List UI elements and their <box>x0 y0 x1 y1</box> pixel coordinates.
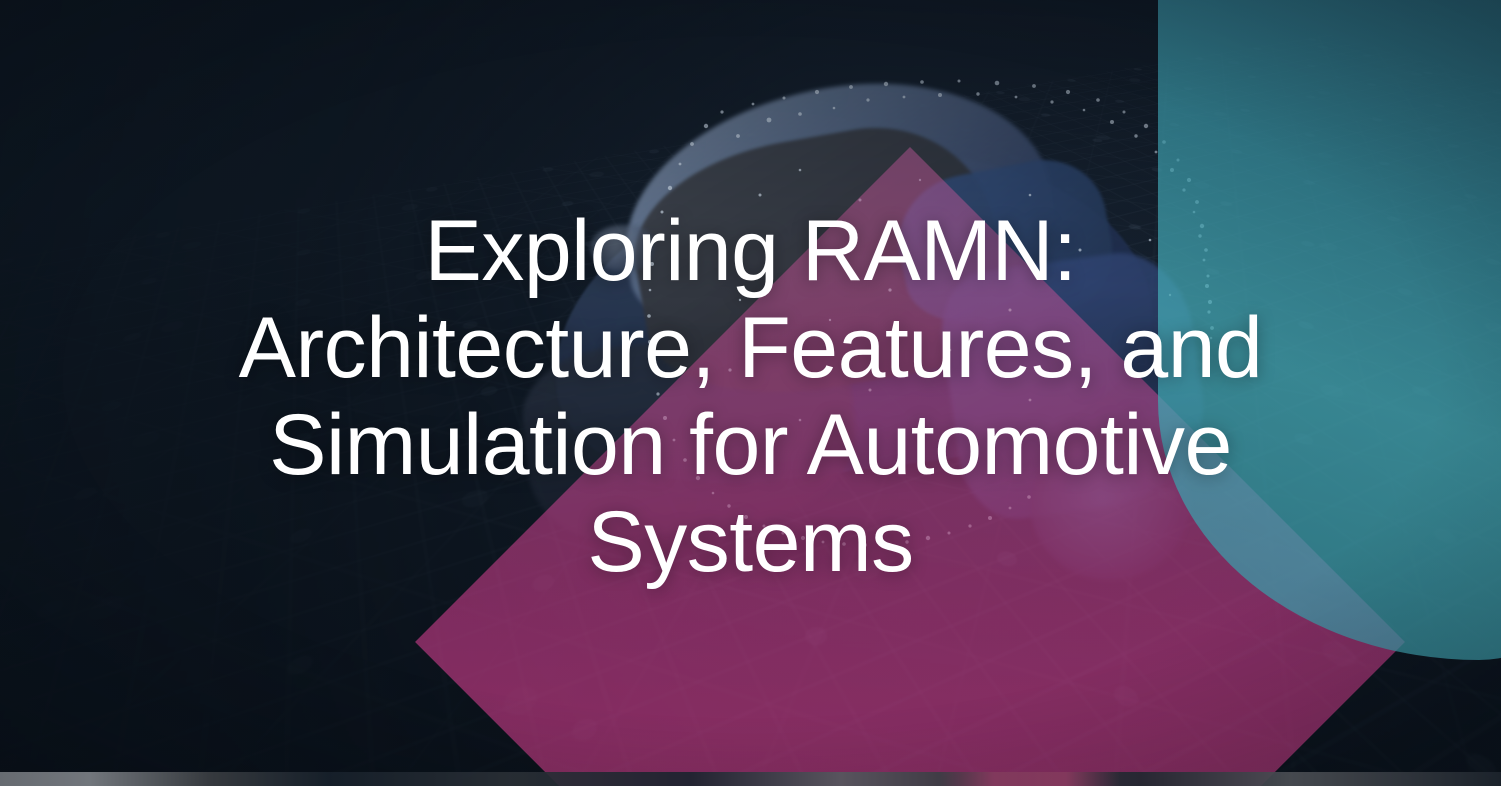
bottom-edge-strip-pink-accent <box>940 772 1120 786</box>
bottom-edge-strip <box>0 772 1501 786</box>
title-slide: Exploring RAMN: Architecture, Features, … <box>0 0 1501 786</box>
